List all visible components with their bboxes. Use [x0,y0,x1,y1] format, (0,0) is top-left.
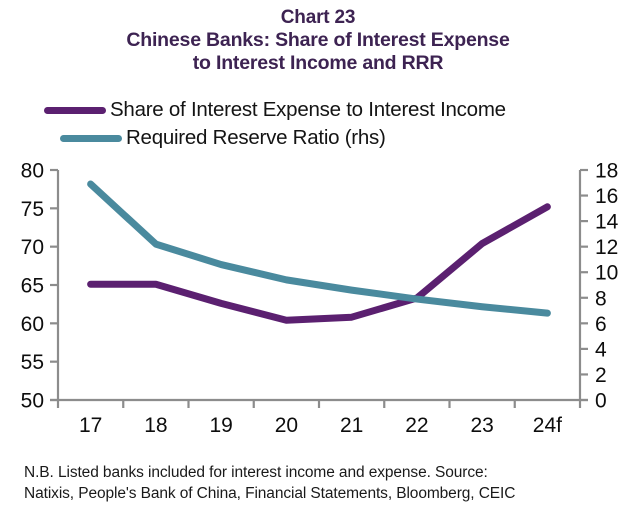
chart-legend: Share of Interest Expense to Interest In… [44,96,624,152]
chart-title-block: Chart 23 Chinese Banks: Share of Interes… [0,6,636,75]
x-axis-tick-label: 23 [470,414,493,437]
x-axis-ticks [58,400,580,408]
page-title-line-2: to Interest Income and RRR [0,52,636,75]
right-axis-tick-label: 12 [595,236,618,259]
right-axis-tick-label: 6 [595,313,607,336]
left-axis-tick-label: 55 [21,351,44,374]
legend-label-series-1: Share of Interest Expense to Interest In… [110,98,506,122]
chart-number: Chart 23 [0,6,636,29]
x-axis-labels: 1718192021222324f [79,414,562,437]
chart-footnote: N.B. Listed banks included for interest … [24,462,624,504]
chart-series [91,184,548,320]
right-axis-labels: 024681012141618 [595,160,619,413]
left-axis-tick-label: 65 [21,275,44,298]
chart-plot-area: 50556065707580 024681012141618 171819202… [0,155,636,455]
legend-swatch-icon-series-2 [60,135,122,142]
x-axis-tick-label: 24f [533,414,562,437]
x-axis-tick-label: 20 [275,414,298,437]
legend-swatch-icon-series-1 [44,107,106,114]
footnote-line-2: Natixis, People's Bank of China, Financi… [24,483,624,504]
x-axis-tick-label: 21 [340,414,363,437]
x-axis-tick-label: 19 [209,414,232,437]
right-axis-tick-label: 14 [595,211,619,234]
x-axis-tick-label: 17 [79,414,102,437]
chart-page: Chart 23 Chinese Banks: Share of Interes… [0,0,636,514]
legend-item-interest-expense[interactable]: Share of Interest Expense to Interest In… [44,96,624,124]
right-axis-tick-label: 10 [595,262,618,285]
x-axis-tick-label: 22 [405,414,428,437]
legend-label-series-2: Required Reserve Ratio (rhs) [126,126,386,150]
right-axis-tick-label: 16 [595,185,618,208]
left-axis-tick-label: 75 [21,198,44,221]
footnote-line-1: N.B. Listed banks included for interest … [24,462,624,483]
right-axis-tick-label: 4 [595,338,607,361]
page-title-line-1: Chinese Banks: Share of Interest Expense [0,29,636,52]
left-axis-ticks [50,170,58,400]
left-axis-tick-label: 70 [21,236,44,259]
right-axis-ticks [580,170,588,400]
x-axis-tick-label: 18 [144,414,167,437]
right-axis-tick-label: 2 [595,364,607,387]
left-axis-labels: 50556065707580 [21,160,44,413]
right-axis-tick-label: 0 [595,390,607,413]
right-axis-tick-label: 8 [595,287,607,310]
line-chart-svg: 50556065707580 024681012141618 171819202… [0,155,636,455]
right-axis-tick-label: 18 [595,160,618,183]
left-axis-tick-label: 80 [21,160,44,183]
left-axis-tick-label: 60 [21,313,44,336]
legend-item-rrr[interactable]: Required Reserve Ratio (rhs) [60,124,624,152]
left-axis-tick-label: 50 [21,390,44,413]
